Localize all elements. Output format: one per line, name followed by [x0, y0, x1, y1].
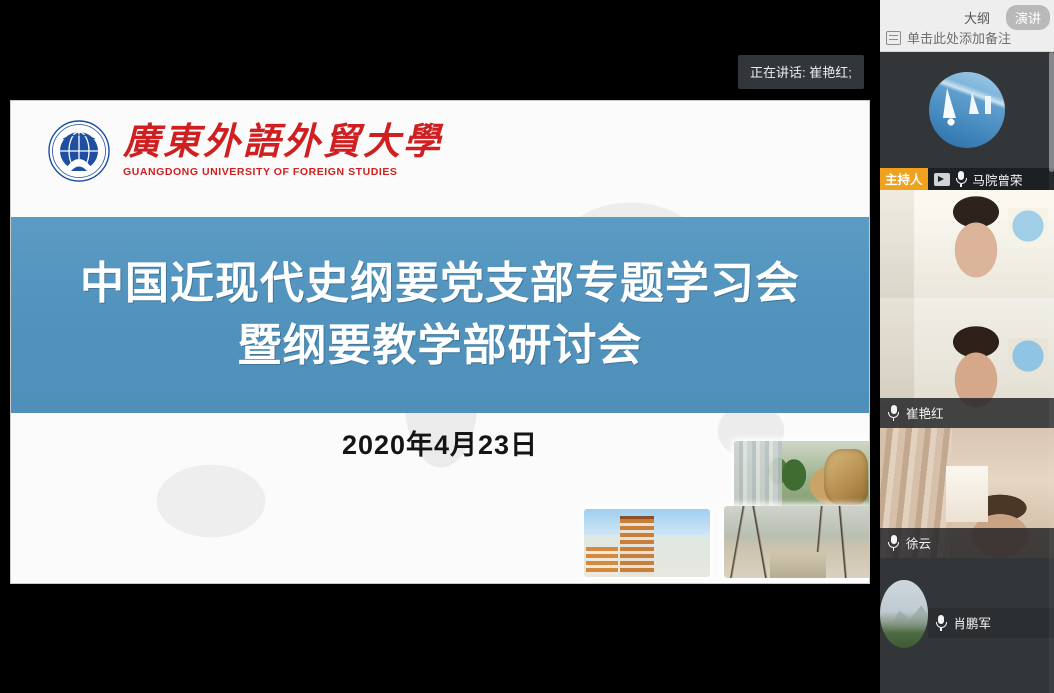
notes-tab-group[interactable]: 大纲 演讲	[955, 5, 1050, 30]
campus-building-photo	[584, 509, 710, 577]
participant-tile-host[interactable]: 主持人 马院曾荣	[880, 168, 1054, 298]
notes-icon	[886, 31, 901, 45]
presenter-notes-header: 大纲 演讲 单击此处添加备注	[880, 0, 1054, 52]
slide-title-line-1: 中国近现代史纲要党支部专题学习会	[80, 253, 800, 315]
participant-tile-cuiyanhong[interactable]: 崔艳红	[880, 298, 1054, 428]
slide-title-band: 中国近现代史纲要党支部专题学习会 暨纲要教学部研讨会	[11, 217, 869, 413]
microphone-icon[interactable]	[888, 535, 899, 551]
mountain-avatar	[880, 580, 928, 648]
sailboats-avatar	[929, 72, 1005, 148]
logo-english-name: GUANGDONG UNIVERSITY OF FOREIGN STUDIES	[123, 166, 397, 178]
screen-root: 廣東外語外貿大學 GUANGDONG UNIVERSITY OF FOREIGN…	[0, 0, 1054, 693]
microphone-icon[interactable]	[888, 405, 899, 421]
logo-chinese-name: 廣東外語外貿大學	[123, 124, 443, 163]
tab-outline[interactable]: 大纲	[955, 5, 999, 30]
participant-label: 崔艳红	[880, 398, 1054, 428]
notes-placeholder-text: 单击此处添加备注	[907, 28, 1011, 47]
university-logo: 廣東外語外貿大學 GUANGDONG UNIVERSITY OF FOREIGN…	[47, 119, 443, 183]
participant-label: 徐云	[880, 528, 1054, 558]
speaking-tooltip: 正在讲话: 崔艳红;	[738, 55, 864, 89]
participant-tile-xianghaiying[interactable]: 向海英	[880, 688, 1054, 693]
participant-tile-avatar-sailboats[interactable]	[880, 52, 1054, 168]
notes-placeholder-row[interactable]: 单击此处添加备注	[886, 28, 1011, 47]
university-seal-icon	[47, 119, 111, 183]
tab-presentation[interactable]: 演讲	[1006, 5, 1050, 30]
participant-tile-xiaopengjun[interactable]: 肖鹏军	[880, 558, 1054, 688]
participant-name: 徐云	[906, 533, 931, 552]
participant-name: 崔艳红	[906, 403, 944, 422]
screen-share-icon[interactable]	[934, 173, 950, 186]
slide-title-line-2: 暨纲要教学部研讨会	[238, 315, 643, 377]
participant-name: 肖鹏军	[954, 613, 992, 632]
presentation-area[interactable]: 廣東外語外貿大學 GUANGDONG UNIVERSITY OF FOREIGN…	[0, 0, 880, 693]
microphone-icon[interactable]	[956, 171, 967, 187]
host-name: 马院曾荣	[973, 170, 1023, 189]
campus-tree-road-photo	[724, 506, 870, 578]
video-panel-scrollbar[interactable]	[1049, 52, 1054, 693]
presentation-slide[interactable]: 廣東外語外貿大學 GUANGDONG UNIVERSITY OF FOREIGN…	[10, 100, 870, 584]
participant-tile-xuyun[interactable]: 徐云	[880, 428, 1054, 558]
host-badge: 主持人	[880, 168, 928, 190]
participant-label: 肖鹏军	[928, 608, 1054, 638]
participant-video-panel[interactable]: 主持人 马院曾荣 崔艳红	[880, 52, 1054, 693]
campus-stone-monument-photo	[734, 441, 870, 513]
microphone-icon[interactable]	[936, 615, 947, 631]
host-bar: 主持人 马院曾荣	[880, 168, 1054, 190]
scrollbar-thumb[interactable]	[1049, 52, 1054, 172]
